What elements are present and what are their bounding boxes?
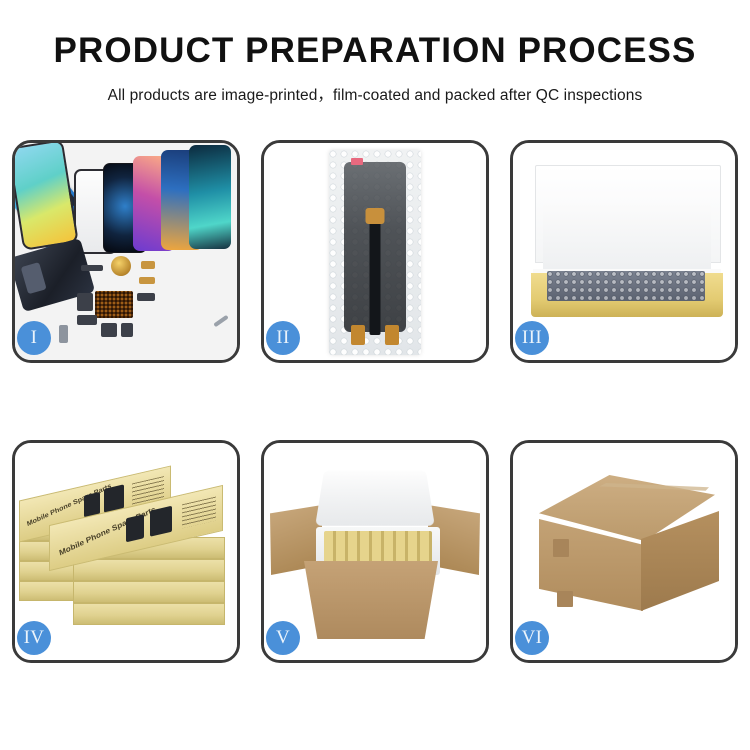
gold-flex-icon xyxy=(141,261,155,269)
phone-teal-screen-icon xyxy=(189,145,231,249)
screen-flex-cable-icon xyxy=(370,220,381,335)
foam-lid-icon xyxy=(315,471,435,526)
step-card-3[interactable]: III xyxy=(510,140,738,363)
step-2-photo xyxy=(264,143,486,360)
earpiece-chip-icon xyxy=(81,265,103,271)
stack-box-right-3 xyxy=(73,559,225,581)
grey-bubble-wrap-icon xyxy=(547,271,705,301)
phone-front-display-icon xyxy=(15,143,79,251)
home-button-flex-icon xyxy=(137,293,155,301)
connector-right-icon xyxy=(385,325,399,345)
step-badge-4: IV xyxy=(17,621,51,655)
process-step-grid: I II III xyxy=(12,140,738,663)
step-badge-5: V xyxy=(266,621,300,655)
carton-tab-upper-icon xyxy=(553,539,569,557)
bubble-wrap-bag-icon xyxy=(329,150,421,355)
step-4-photo: Mobile Phone Spare Parts Mobile Phone Sp… xyxy=(15,443,237,660)
step-1-photo xyxy=(15,143,237,360)
carton-tab-lower-icon xyxy=(557,591,573,607)
carton-body-icon xyxy=(304,561,438,639)
step-card-4[interactable]: Mobile Phone Spare Parts Mobile Phone Sp… xyxy=(12,440,240,663)
step-3-photo xyxy=(513,143,735,360)
stack-box-right-1 xyxy=(73,603,225,625)
step-card-6[interactable]: VI xyxy=(510,440,738,663)
speaker-icon xyxy=(121,323,133,337)
step-card-2[interactable]: II xyxy=(261,140,489,363)
step-card-1[interactable]: I xyxy=(12,140,240,363)
camera-module-icon xyxy=(101,323,117,337)
page-header: PRODUCT PREPARATION PROCESS All products… xyxy=(0,0,750,105)
connector-left-icon xyxy=(351,325,365,345)
page-title: PRODUCT PREPARATION PROCESS xyxy=(0,33,750,70)
step-badge-1: I xyxy=(17,321,51,355)
step-6-photo xyxy=(513,443,735,660)
qc-sticker-icon xyxy=(351,158,363,165)
box-stack-icon: Mobile Phone Spare Parts Mobile Phone Sp… xyxy=(15,453,237,658)
step-badge-2: II xyxy=(266,321,300,355)
screwdriver-icon xyxy=(213,315,228,327)
page-subtitle: All products are image-printed，film-coat… xyxy=(0,83,750,105)
step-badge-6: VI xyxy=(515,621,549,655)
flex-cable-grid-icon xyxy=(95,291,133,318)
stack-box-right-2 xyxy=(73,581,225,603)
power-flex-icon xyxy=(139,277,155,284)
bracket-icon xyxy=(77,293,93,311)
step-badge-3: III xyxy=(515,321,549,355)
sim-tray-icon xyxy=(59,325,68,343)
connector-strip-icon xyxy=(77,315,97,325)
vibration-motor-icon xyxy=(111,256,131,276)
step-5-photo xyxy=(264,443,486,660)
step-card-5[interactable]: V xyxy=(261,440,489,663)
